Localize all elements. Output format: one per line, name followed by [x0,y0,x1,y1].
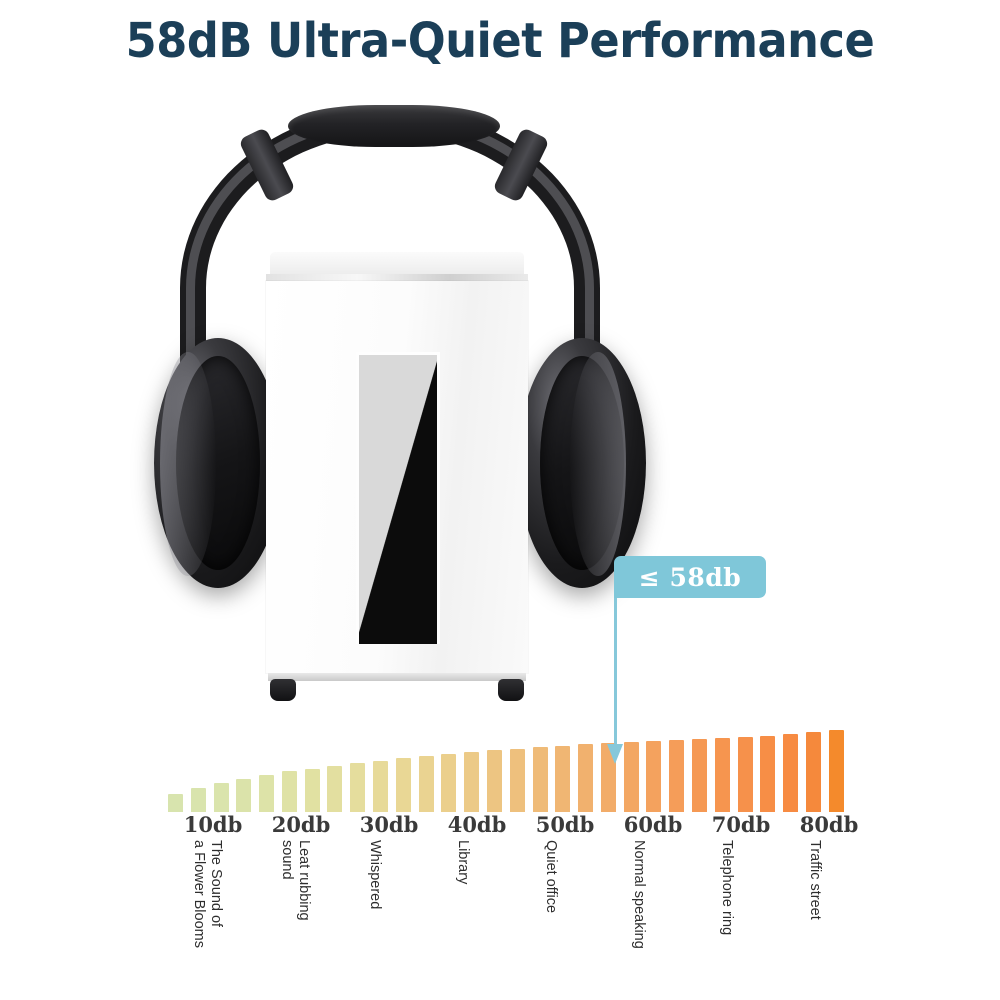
bar [533,747,548,812]
bar [191,788,206,812]
bar [373,761,388,812]
category-label: Whispered [366,840,383,909]
bar [168,794,183,812]
bar [236,779,251,812]
title-bar: 58dB Ultra-Quiet Performance [0,14,1000,69]
headphone-earcup-rim-left [160,352,216,576]
bar [715,738,730,812]
bar [692,739,707,812]
bar [419,756,434,812]
axis-tick-label: 50db [520,812,610,837]
callout-arrow-head-icon [607,744,623,764]
bar [350,763,365,812]
status-badge: ≤ 58db [614,556,766,598]
appliance-base [268,673,526,681]
appliance-caster-left [270,679,296,701]
axis-tick-label: 80db [784,812,874,837]
category-label: Quiet office [542,840,559,913]
bar-series [168,722,844,812]
appliance-vent-frame [356,352,440,644]
category-label: Telephone ring [718,840,735,935]
axis-tick-label: 60db [608,812,698,837]
x-axis-tick-labels: 10db20db30db40db50db60db70db80db [150,812,860,842]
appliance-unit [262,252,532,692]
axis-tick-label: 70db [696,812,786,837]
bar [760,736,775,812]
bar [464,752,479,812]
noise-level-callout: ≤ 58db [614,556,766,598]
category-label: The Sound of a Flower Blooms [190,840,224,948]
bar [282,771,297,812]
bar [806,732,821,812]
bar [829,730,844,812]
axis-tick-label: 40db [432,812,522,837]
axis-tick-label: 30db [344,812,434,837]
x-axis-category-labels: The Sound of a Flower BloomsLeat rubbing… [150,840,860,995]
category-label: Normal speaking [630,840,647,949]
bar [783,734,798,812]
bar [624,742,639,812]
bar [738,737,753,812]
bar [327,766,342,812]
bar [441,754,456,812]
bar [646,741,661,812]
bar [555,746,570,812]
headphone-headband-pad [288,105,500,147]
headphone-earcup-rim-right [570,352,626,576]
bar [510,749,525,812]
bar [669,740,684,812]
axis-tick-label: 10db [168,812,258,837]
promo-graphic-page: 58dB Ultra-Quiet Performance ≤ 58db [0,0,1000,1000]
category-label: Traffic street [806,840,823,920]
bar [259,775,274,812]
bar [578,744,593,812]
callout-arrow-stem [614,598,617,746]
appliance-top-seam [266,274,528,281]
page-title: 58dB Ultra-Quiet Performance [35,14,965,69]
axis-tick-label: 20db [256,812,346,837]
bar [487,750,502,812]
category-label: Leat rubbing sound [278,840,312,921]
bar [396,758,411,812]
product-photo [140,100,660,710]
appliance-caster-right [498,679,524,701]
decibel-bar-chart [168,722,844,812]
appliance-top-cover [270,252,524,274]
category-label: Library [454,840,471,884]
bar [214,783,229,812]
bar [305,769,320,812]
